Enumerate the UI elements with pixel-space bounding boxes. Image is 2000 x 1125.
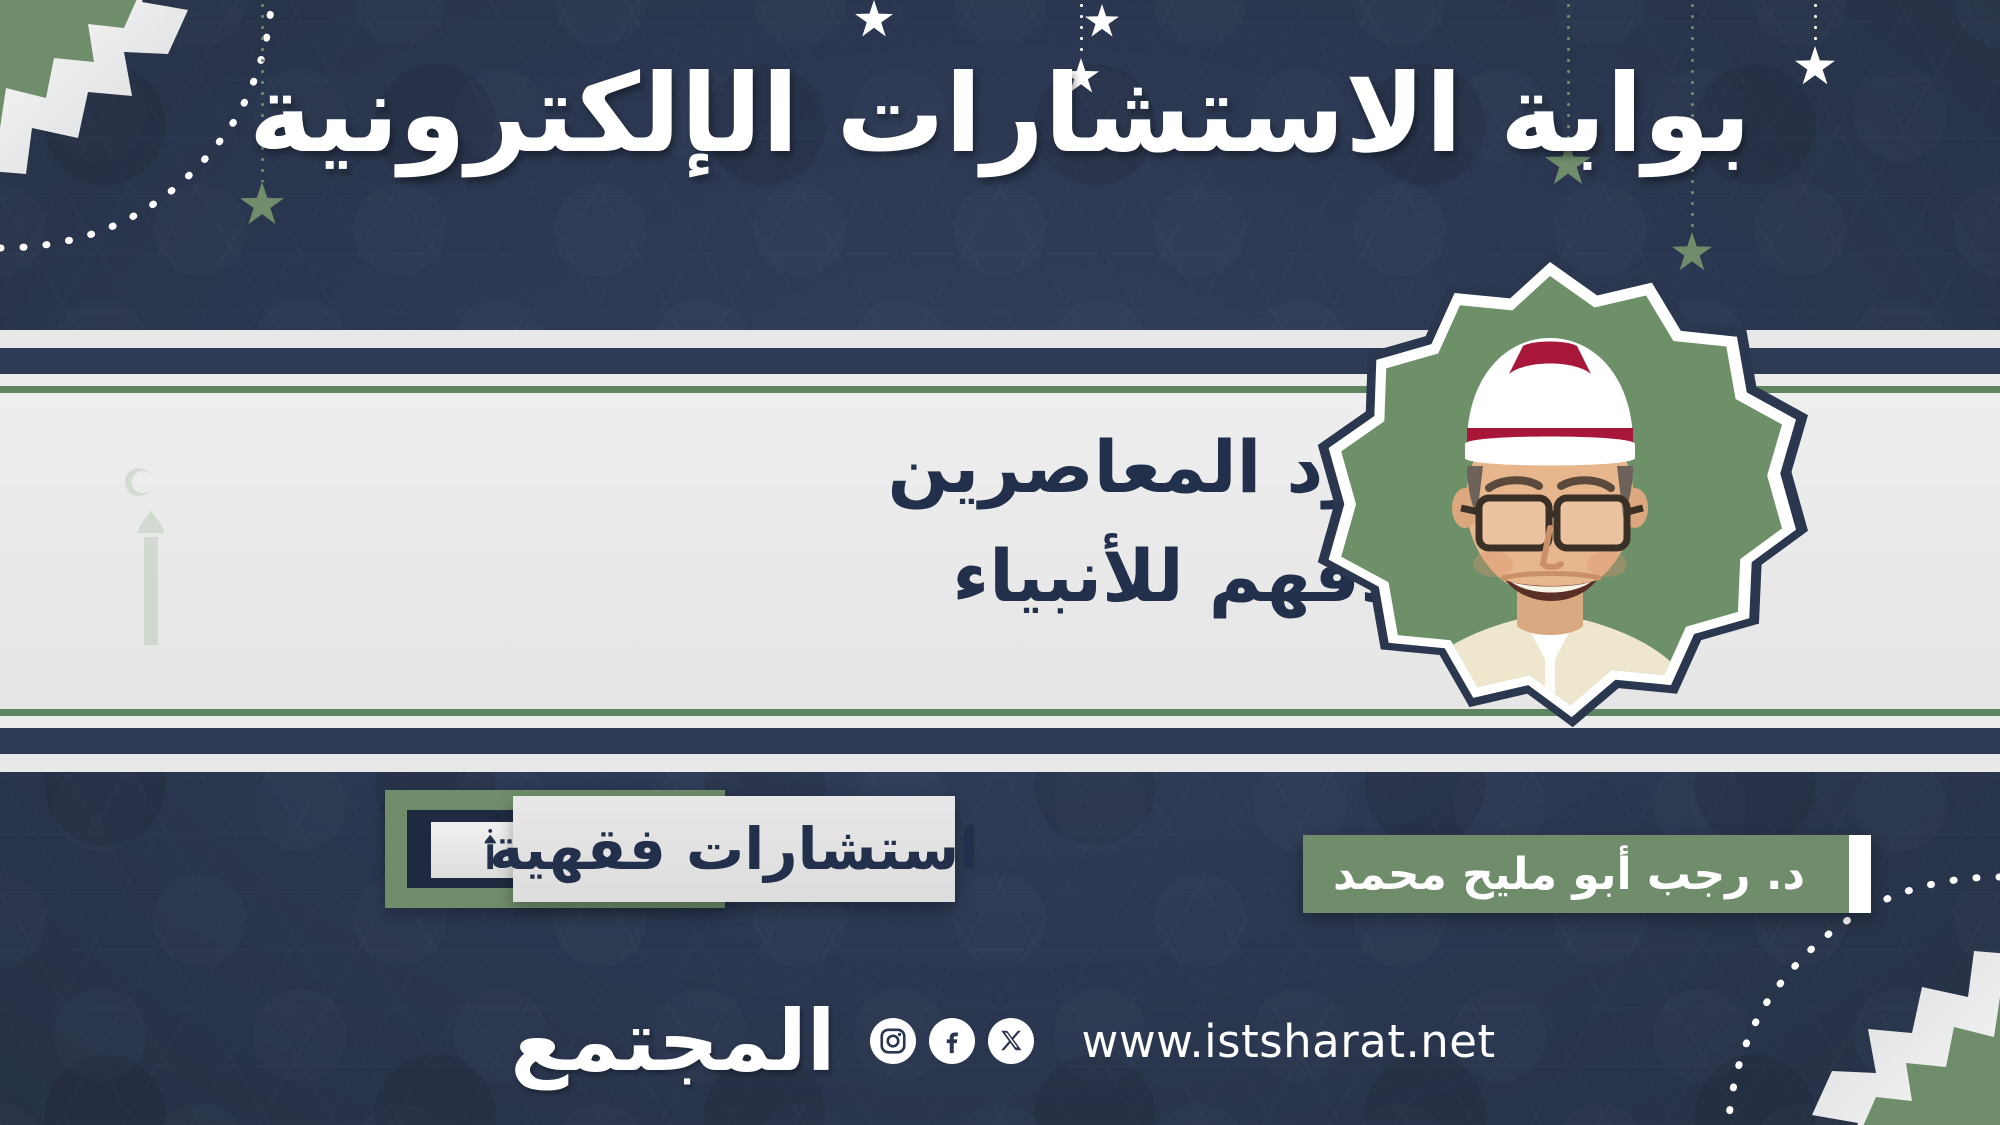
author-name-text: د. رجب أبو مليح محمد bbox=[1333, 849, 1805, 900]
hanging-star-1-cord bbox=[1080, 0, 1083, 58]
title-banner: مؤاخذة اليهود المعاصرين بقتل أسلافهم للأ… bbox=[0, 330, 2000, 752]
hanging-star-7 bbox=[855, 0, 893, 38]
banner-stripe-top-thin bbox=[0, 374, 2000, 386]
hanging-star-6-glyph bbox=[240, 182, 284, 226]
facebook-icon[interactable] bbox=[929, 1018, 975, 1064]
headline-line-1: مؤاخذة اليهود المعاصرين bbox=[830, 413, 1830, 522]
headline-block: مؤاخذة اليهود المعاصرين بقتل أسلافهم للأ… bbox=[830, 413, 1830, 632]
author-name-panel: د. رجب أبو مليح محمد bbox=[1303, 835, 1849, 913]
author-name-badge: د. رجب أبو مليح محمد bbox=[1303, 835, 1871, 913]
banner-stripe-bottom-green bbox=[0, 709, 2000, 716]
hanging-star-5 bbox=[1085, 0, 1119, 38]
hanging-star-5-cord bbox=[1101, 0, 1104, 4]
plaque-label-panel: استشارات فقهية bbox=[513, 796, 955, 902]
consultation-plaque[interactable]: استشارات فقهية bbox=[385, 790, 955, 908]
banner-stripe-top-navy bbox=[0, 348, 2000, 374]
social-links bbox=[870, 1018, 1034, 1064]
website-url[interactable]: www.istsharat.net bbox=[1082, 1015, 1496, 1068]
banner-stripe-bottom-gray bbox=[0, 754, 2000, 772]
hanging-star-4-glyph bbox=[1672, 232, 1712, 272]
banner-stripe-top-green bbox=[0, 386, 2000, 393]
banner-stripe-bottom-thin bbox=[0, 716, 2000, 728]
author-badge-accent-bar bbox=[1849, 835, 1871, 913]
footer-bar: المجتمع www.istsharat.net bbox=[0, 999, 2000, 1083]
x-twitter-icon[interactable] bbox=[988, 1018, 1034, 1064]
banner-stripe-bottom-navy bbox=[0, 728, 2000, 754]
hanging-star-5-glyph bbox=[1085, 4, 1119, 38]
banner-stripe-top-gray bbox=[0, 330, 2000, 348]
banner-body: مؤاخذة اليهود المعاصرين بقتل أسلافهم للأ… bbox=[0, 393, 2000, 709]
mosque-watermark-icon bbox=[26, 445, 216, 655]
poster-canvas: بوابة الاستشارات الإلكترونية مؤاخذة اليه… bbox=[0, 0, 2000, 1125]
page-title: بوابة الاستشارات الإلكترونية bbox=[0, 52, 2000, 177]
headline-line-2: بقتل أسلافهم للأنبياء bbox=[830, 522, 1830, 631]
hanging-star-7-glyph bbox=[855, 0, 893, 38]
brand-logo: المجتمع bbox=[510, 999, 835, 1083]
instagram-icon[interactable] bbox=[870, 1018, 916, 1064]
hanging-star-3-cord bbox=[1814, 0, 1817, 46]
plaque-label: استشارات فقهية bbox=[489, 815, 979, 883]
